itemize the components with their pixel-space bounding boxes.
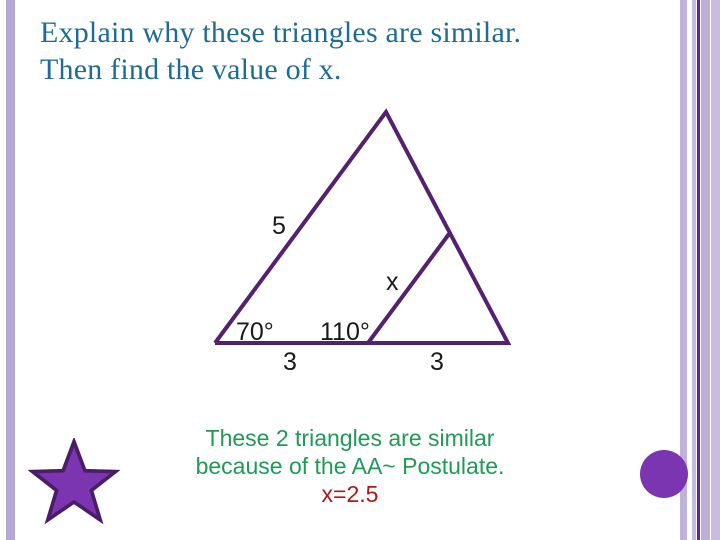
answer-line-1: These 2 triangles are similar [110,424,590,452]
circle-decoration [640,450,690,500]
large-triangle-outline [215,112,508,343]
right-border-stripe-5 [711,0,720,540]
slide-title-line-1: Explain why these triangles are similar. [40,14,650,51]
right-border-stripe-2 [692,0,696,540]
circle-icon [640,450,688,498]
right-border-stripe-3 [697,0,700,540]
answer-line-2: because of the AA~ Postulate. [110,452,590,480]
label-base-left-3: 3 [283,350,297,375]
label-side-5: 5 [272,214,286,239]
left-border-stripe [6,0,15,540]
slide-canvas: Explain why these triangles are similar.… [0,0,720,540]
star-decoration [28,438,120,530]
label-angle-110: 110° [320,320,370,345]
label-angle-70: 70° [236,320,274,345]
star-icon [28,438,120,530]
label-side-x: x [386,270,399,295]
small-triangle-side-x [368,234,449,343]
label-base-right-3: 3 [430,350,444,375]
slide-title: Explain why these triangles are similar.… [40,14,650,88]
answer-value-x: x=2.5 [110,480,590,508]
answer-block: These 2 triangles are similar because of… [110,424,590,508]
slide-title-line-2: Then find the value of x. [40,51,650,88]
right-border-stripe-4 [701,0,710,540]
